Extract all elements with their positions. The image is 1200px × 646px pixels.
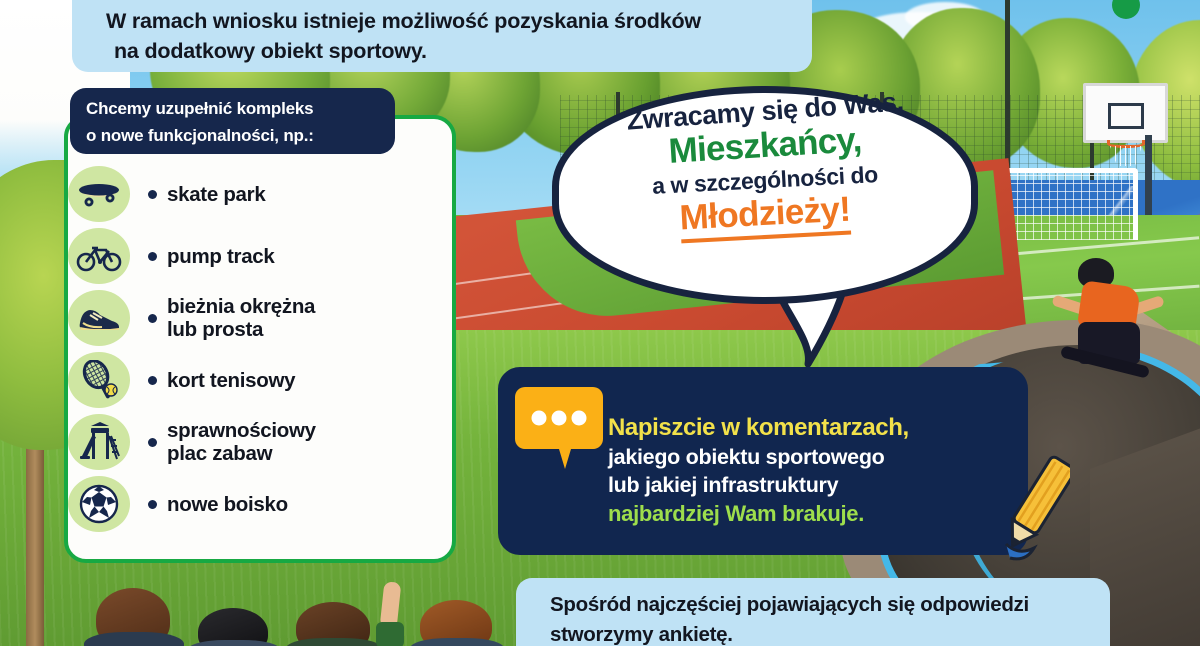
chat-bubble-icon xyxy=(515,381,603,471)
features-list: skate park pump track xyxy=(68,163,458,535)
list-bullet xyxy=(148,252,157,261)
features-header-line2: o nowe funkcjonalności, np.: xyxy=(86,122,385,149)
top-banner: W ramach wniosku istnieje możliwość pozy… xyxy=(72,0,812,72)
speech-line-4-underlined: Młodzieży! xyxy=(679,190,852,244)
pencil-icon xyxy=(1000,448,1070,568)
raised-arm-sleeve xyxy=(376,622,404,646)
list-item-label: kort tenisowy xyxy=(167,369,295,392)
list-bullet xyxy=(148,190,157,199)
playground-slide-icon xyxy=(68,414,130,470)
list-item-label: sprawnościowy plac zabaw xyxy=(167,419,316,465)
soccer-ball-icon xyxy=(68,476,130,532)
list-item-label: bieżnia okrężna lub prosta xyxy=(167,295,315,341)
comment-line-1: Napiszcie w komentarzach, xyxy=(608,412,1018,443)
features-list-header: Chcemy uzupełnić kompleks o nowe funkcjo… xyxy=(70,88,395,154)
list-item[interactable]: nowe boisko xyxy=(68,473,458,535)
list-item[interactable]: sprawnościowy plac zabaw xyxy=(68,411,458,473)
speech-bubble-text: Zwracamy się do Was, Mieszkańcy, a w szc… xyxy=(560,96,970,234)
features-header-line1: Chcemy uzupełnić kompleks xyxy=(86,95,385,122)
top-banner-line2: na dodatkowy obiekt sportowy. xyxy=(106,36,796,66)
tennis-racket-icon xyxy=(68,352,130,408)
comment-line-4: najbardziej Wam brakuje. xyxy=(608,499,1018,529)
basketball-backboard-square xyxy=(1108,103,1144,129)
comment-line-2: jakiego obiektu sportowego xyxy=(608,443,1018,471)
list-item[interactable]: bieżnia okrężna lub prosta xyxy=(68,287,458,349)
list-bullet xyxy=(148,314,157,323)
list-bullet xyxy=(148,376,157,385)
comment-panel-text: Napiszcie w komentarzach, jakiego obiekt… xyxy=(608,412,1018,529)
comment-line-3: lub jakiej infrastruktury xyxy=(608,471,1018,499)
list-bullet xyxy=(148,500,157,509)
bottom-banner: Spośród najczęściej pojawiających się od… xyxy=(516,578,1110,646)
bottom-banner-line1: Spośród najczęściej pojawiających się od… xyxy=(550,590,1096,620)
skateboard-icon xyxy=(68,166,130,222)
child-shoulders xyxy=(84,632,184,646)
list-item-label: nowe boisko xyxy=(167,493,288,516)
top-banner-line1: W ramach wniosku istnieje możliwość pozy… xyxy=(106,6,796,36)
list-bullet xyxy=(148,438,157,447)
list-item[interactable]: skate park xyxy=(68,163,458,225)
bicycle-icon xyxy=(68,228,130,284)
list-item-label: skate park xyxy=(167,183,265,206)
bottom-banner-line2: stworzymy ankietę. xyxy=(550,620,1096,646)
running-shoe-icon xyxy=(68,290,130,346)
list-item-label: pump track xyxy=(167,245,275,268)
list-item[interactable]: pump track xyxy=(68,225,458,287)
list-item[interactable]: kort tenisowy xyxy=(68,349,458,411)
